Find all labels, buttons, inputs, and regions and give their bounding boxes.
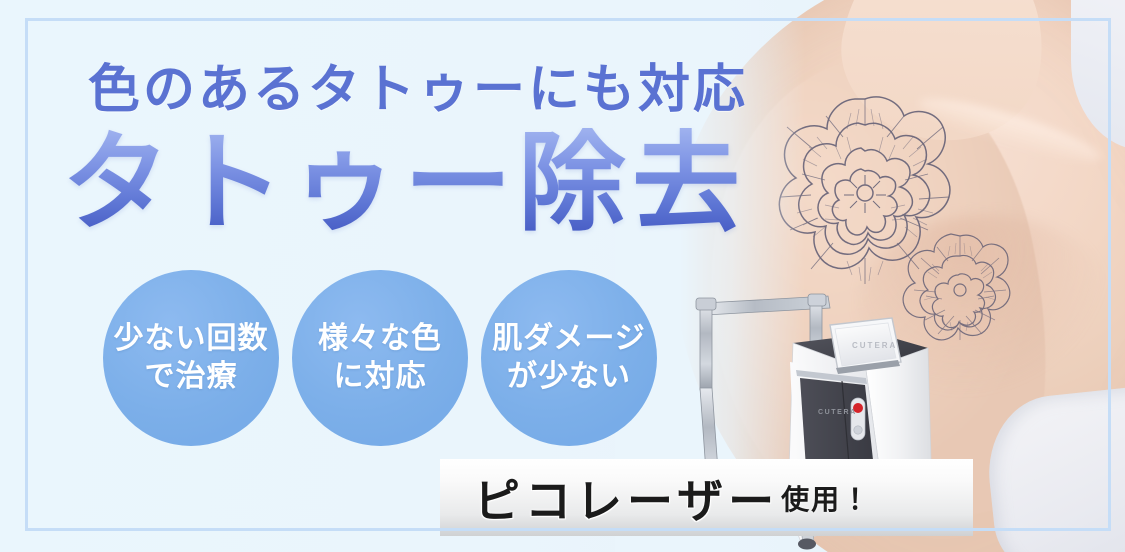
banner-subtitle: 色のあるタトゥーにも対応 — [88, 47, 748, 122]
badge-line-2: で治療 — [145, 358, 238, 396]
badge-line-1: 様々な色 — [318, 320, 442, 358]
badge-line-1: 肌ダメージ — [492, 320, 646, 358]
badge-line-2: が少ない — [507, 358, 631, 396]
banner-title: タトゥー除去 — [62, 128, 746, 241]
machine-screen-brand: CUTERA — [852, 341, 897, 350]
badge-various-colors: 様々な色 に対応 — [292, 270, 468, 446]
ribbon-main-text: ピコレーザー — [474, 465, 779, 531]
badge-low-skin-damage: 肌ダメージ が少ない — [481, 270, 657, 446]
badge-few-sessions: 少ない回数 で治療 — [103, 270, 279, 446]
pico-laser-ribbon: ピコレーザー 使用！ — [440, 459, 973, 536]
feature-badges: 少ない回数 で治療 様々な色 に対応 肌ダメージ が少ない — [103, 270, 657, 446]
tattoo-removal-banner: CUTERA CUTERA 色のあるタトゥーにも対応 タトゥー除去 少ない回数 … — [0, 0, 1125, 552]
machine-body-brand: CUTERA — [818, 409, 857, 416]
badge-line-1: 少ない回数 — [114, 320, 269, 358]
ribbon-sub-text: 使用！ — [781, 478, 871, 518]
badge-line-2: に対応 — [334, 358, 427, 396]
